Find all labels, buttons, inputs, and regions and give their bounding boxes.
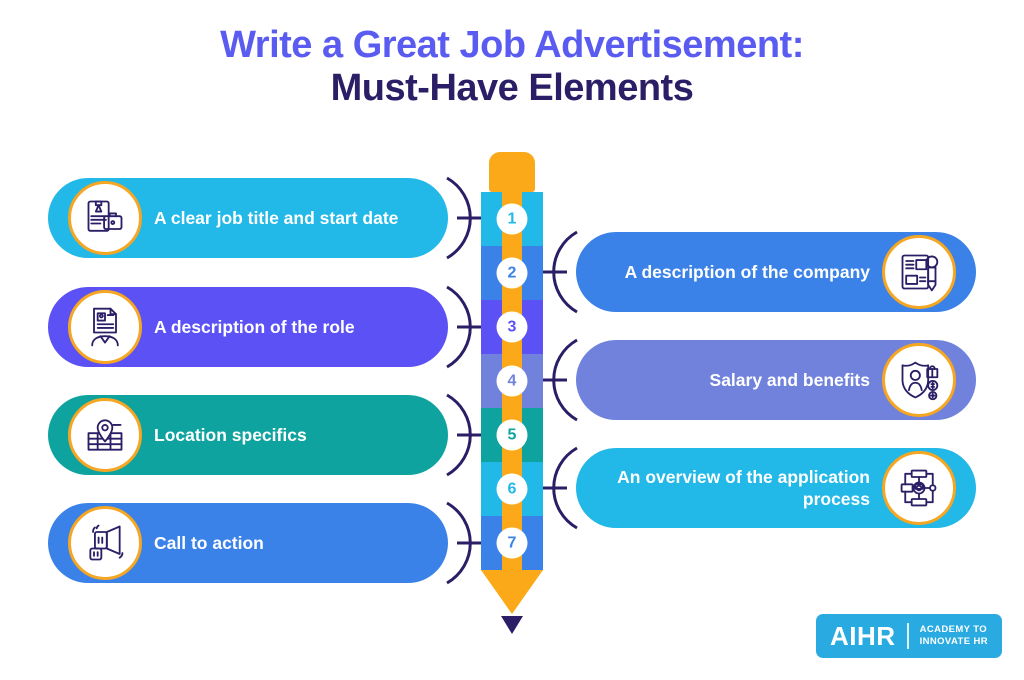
step-card-1[interactable]: A clear job title and start date — [48, 178, 448, 258]
megaphone-icon — [68, 506, 142, 580]
logo-tagline-line-2: INNOVATE HR — [920, 636, 988, 648]
shield-benefits-icon — [882, 343, 956, 417]
step-number-1: 1 — [497, 204, 528, 235]
step-card-4[interactable]: Salary and benefits — [576, 340, 976, 420]
pencil-segment-7: 7 — [481, 516, 543, 570]
flowchart-icon — [882, 451, 956, 525]
map-pin-icon — [68, 398, 142, 472]
pencil-segment-2: 2 — [481, 246, 543, 300]
aihr-logo[interactable]: AIHR ACADEMY TO INNOVATE HR — [816, 614, 1002, 658]
step-number-6: 6 — [497, 474, 528, 505]
logo-tagline-line-1: ACADEMY TO — [920, 624, 988, 636]
logo-divider — [907, 623, 909, 649]
step-card-5[interactable]: Location specifics — [48, 395, 448, 475]
logo-wordmark: AIHR — [830, 623, 896, 649]
step-card-7[interactable]: Call to action — [48, 503, 448, 583]
step-number-4: 4 — [497, 366, 528, 397]
resume-person-icon — [68, 290, 142, 364]
pencil-lead-point — [501, 616, 523, 634]
pencil-timeline: 1 2 3 4 5 6 — [481, 152, 543, 634]
infographic-canvas: Write a Great Job Advertisement: Must-Ha… — [0, 0, 1024, 680]
step-card-1-label: A clear job title and start date — [154, 207, 398, 229]
document-pencil-icon — [882, 235, 956, 309]
step-card-6-label: An overview of the application process — [598, 466, 870, 511]
step-number-3: 3 — [497, 312, 528, 343]
title-line-1: Write a Great Job Advertisement: — [0, 24, 1024, 67]
step-card-3-label: A description of the role — [154, 316, 355, 338]
step-card-4-label: Salary and benefits — [710, 369, 870, 391]
clipboard-briefcase-icon — [68, 181, 142, 255]
title-line-2: Must-Have Elements — [0, 67, 1024, 110]
logo-tagline: ACADEMY TO INNOVATE HR — [920, 624, 988, 648]
pencil-segment-5: 5 — [481, 408, 543, 462]
step-card-2-label: A description of the company — [625, 261, 870, 283]
step-card-7-label: Call to action — [154, 532, 264, 554]
pencil-segment-6: 6 — [481, 462, 543, 516]
pencil-segment-1: 1 — [481, 192, 543, 246]
step-card-2[interactable]: A description of the company — [576, 232, 976, 312]
step-card-6[interactable]: An overview of the application process — [576, 448, 976, 528]
step-number-7: 7 — [497, 528, 528, 559]
pencil-eraser — [489, 152, 535, 192]
pencil-segment-3: 3 — [481, 300, 543, 354]
step-number-5: 5 — [497, 420, 528, 451]
step-card-5-label: Location specifics — [154, 424, 307, 446]
step-number-2: 2 — [497, 258, 528, 289]
pencil-body: 1 2 3 4 5 6 — [481, 192, 543, 570]
pencil-segment-4: 4 — [481, 354, 543, 408]
page-title: Write a Great Job Advertisement: Must-Ha… — [0, 24, 1024, 109]
step-card-3[interactable]: A description of the role — [48, 287, 448, 367]
pencil-tip — [481, 570, 543, 614]
